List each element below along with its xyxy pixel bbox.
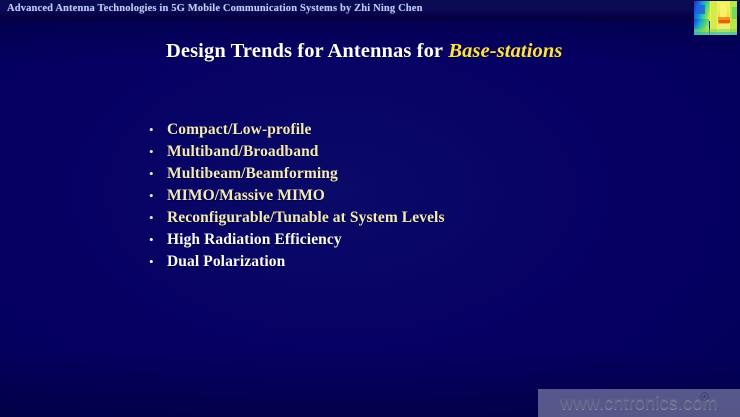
list-item: • Reconfigurable/Tunable at System Level…: [147, 209, 667, 231]
page-title: Design Trends for Antennas for Base-stat…: [166, 40, 562, 63]
watermark-text: www.cntronics.com: [560, 393, 717, 414]
em-simulation-thumbnail-graphic: [694, 1, 737, 35]
list-item: • MIMO/Massive MIMO: [147, 187, 667, 209]
list-item-label: Multiband/Broadband: [167, 143, 319, 161]
list-item-label: Reconfigurable/Tunable at System Levels: [167, 209, 445, 227]
list-item: • High Radiation Efficiency: [147, 231, 667, 253]
list-item: • Multibeam/Beamforming: [147, 165, 667, 187]
page-title-accent: Base-stations: [448, 40, 562, 62]
watermark-badge-icon: [700, 392, 709, 401]
bullet-marker-icon: •: [147, 189, 167, 202]
list-item: • Dual Polarization: [147, 253, 667, 275]
bullet-marker-icon: •: [147, 145, 167, 158]
list-item: • Compact/Low-profile: [147, 121, 667, 143]
list-item-label: MIMO/Massive MIMO: [167, 187, 325, 205]
bullet-marker-icon: •: [147, 211, 167, 224]
watermark-banner: www.cntronics.com: [538, 389, 740, 417]
bullet-marker-icon: •: [147, 255, 167, 268]
bullet-marker-icon: •: [147, 167, 167, 180]
page-title-lead: Design Trends for Antennas for: [166, 40, 443, 62]
list-item: • Multiband/Broadband: [147, 143, 667, 165]
bullet-marker-icon: •: [147, 123, 167, 136]
em-simulation-thumbnail: [694, 1, 737, 35]
bullet-marker-icon: •: [147, 233, 167, 246]
list-item-label: Dual Polarization: [167, 253, 285, 271]
list-item-label: Compact/Low-profile: [167, 121, 312, 139]
presentation-slide: Advanced Antenna Technologies in 5G Mobi…: [0, 0, 740, 417]
presentation-header-title: Advanced Antenna Technologies in 5G Mobi…: [7, 3, 423, 14]
list-item-label: High Radiation Efficiency: [167, 231, 342, 249]
list-item-label: Multibeam/Beamforming: [167, 165, 338, 183]
bullet-list: • Compact/Low-profile • Multiband/Broadb…: [147, 121, 667, 275]
